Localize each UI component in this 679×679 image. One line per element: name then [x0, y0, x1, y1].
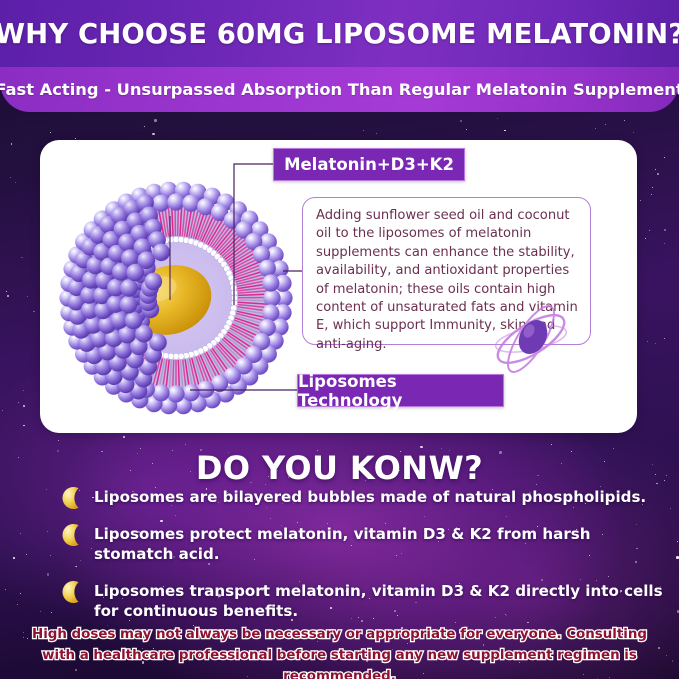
tag-melatonin-d3-k2: Melatonin+D3+K2 [273, 148, 465, 181]
list-item: Liposomes transport melatonin, vitamin D… [58, 581, 663, 621]
disclaimer-line-1: High doses may not always be necessary o… [0, 624, 679, 645]
header: WHY CHOOSE 60MG LIPOSOME MELATONIN? Fast… [0, 0, 679, 112]
list-item: Liposomes protect melatonin, vitamin D3 … [58, 524, 663, 564]
bullet-list: Liposomes are bilayered bubbles made of … [58, 487, 663, 638]
page-subtitle: Fast Acting - Unsurpassed Absorption Tha… [0, 80, 679, 99]
crescent-moon-icon [58, 485, 84, 511]
list-item: Liposomes are bilayered bubbles made of … [58, 487, 663, 507]
list-item-label: Liposomes transport melatonin, vitamin D… [94, 581, 663, 621]
disclaimer-line-2: with a healthcare professional before st… [0, 645, 679, 679]
list-item-label: Liposomes protect melatonin, vitamin D3 … [94, 524, 663, 564]
header-title-band: WHY CHOOSE 60MG LIPOSOME MELATONIN? [0, 0, 679, 67]
crescent-moon-icon [58, 579, 84, 605]
page-title: WHY CHOOSE 60MG LIPOSOME MELATONIN? [0, 18, 679, 50]
crescent-moon-icon [58, 522, 84, 548]
liposome-illustration [56, 178, 296, 418]
know-heading: DO YOU KONW? [0, 449, 679, 487]
poster-root: WHY CHOOSE 60MG LIPOSOME MELATONIN? Fast… [0, 0, 679, 679]
disclaimer: High doses may not always be necessary o… [0, 624, 679, 679]
info-card: Melatonin+D3+K2 Liposomes Technology Add… [40, 140, 637, 433]
tag-liposomes-technology: Liposomes Technology [297, 374, 504, 407]
atom-orbital-icon [488, 300, 574, 378]
list-item-label: Liposomes are bilayered bubbles made of … [94, 487, 663, 507]
header-subtitle-band: Fast Acting - Unsurpassed Absorption Tha… [0, 67, 679, 112]
